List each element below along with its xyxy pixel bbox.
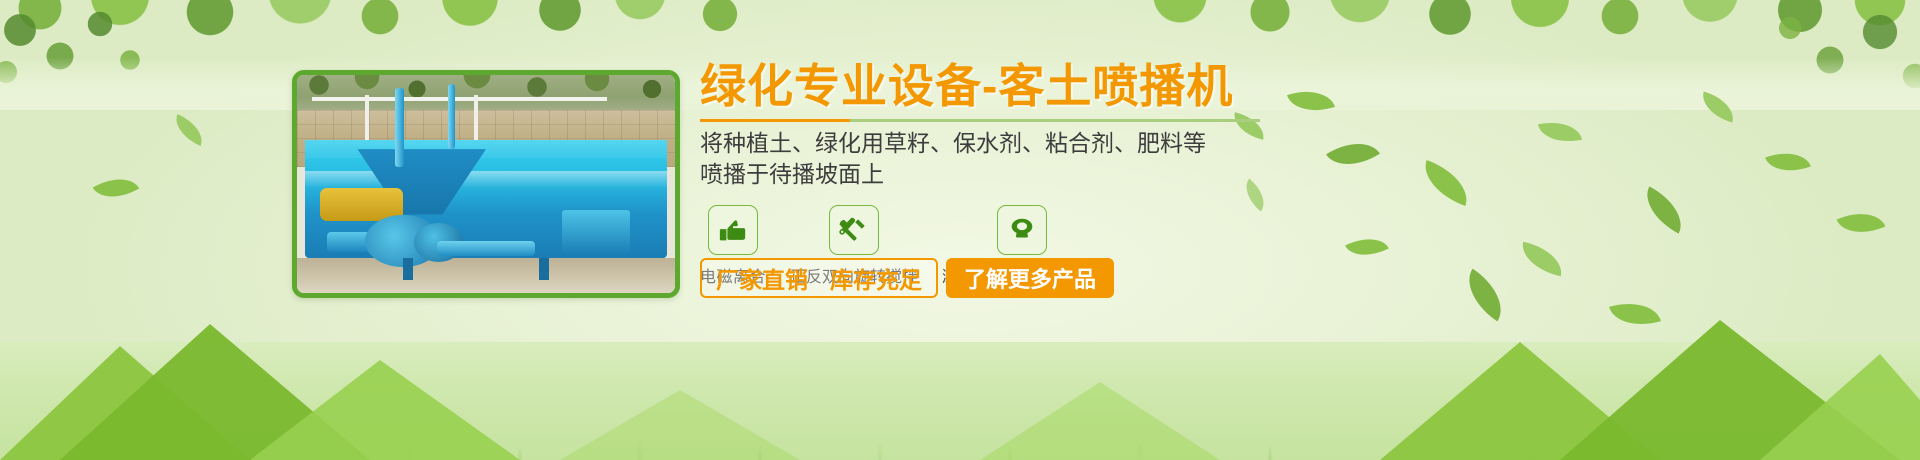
thumbs-up-icon xyxy=(708,205,758,255)
learn-more-button[interactable]: 了解更多产品 xyxy=(946,258,1114,298)
leaf-icon xyxy=(1636,186,1692,233)
title-divider xyxy=(700,119,1260,122)
leaf-icon xyxy=(1837,203,1886,244)
subtitle-line-2: 喷播于待播坡面上 xyxy=(700,159,1320,190)
promo-banner: 绿化专业设备-客土喷播机 将种植土、绿化用草籽、保水剂、粘合剂、肥料等 喷播于待… xyxy=(0,0,1920,460)
leaf-icon xyxy=(1416,160,1475,206)
leaf-icon xyxy=(93,168,140,209)
banner-content: 绿化专业设备-客土喷播机 将种植土、绿化用草籽、保水剂、粘合剂、肥料等 喷播于待… xyxy=(700,62,1320,287)
learn-more-label: 了解更多产品 xyxy=(964,262,1096,294)
leaf-icon xyxy=(1765,144,1811,180)
product-photo xyxy=(292,70,680,298)
leaf-icon xyxy=(1326,130,1380,178)
cta-row: 厂家直销 库存充足 了解更多产品 xyxy=(700,258,1114,298)
page-title: 绿化专业设备-客土喷播机 xyxy=(700,62,1320,111)
leaf-icon xyxy=(1538,116,1582,148)
subtitle-line-1: 将种植土、绿化用草籽、保水剂、粘合剂、肥料等 xyxy=(700,128,1320,159)
engine-gear-icon xyxy=(997,205,1047,255)
cta-tags: 厂家直销 库存充足 xyxy=(700,258,938,298)
cta-tag-stock: 库存充足 xyxy=(830,261,922,295)
cta-tag-direct-sales: 厂家直销 xyxy=(716,261,808,295)
wrench-screwdriver-icon xyxy=(829,205,879,255)
